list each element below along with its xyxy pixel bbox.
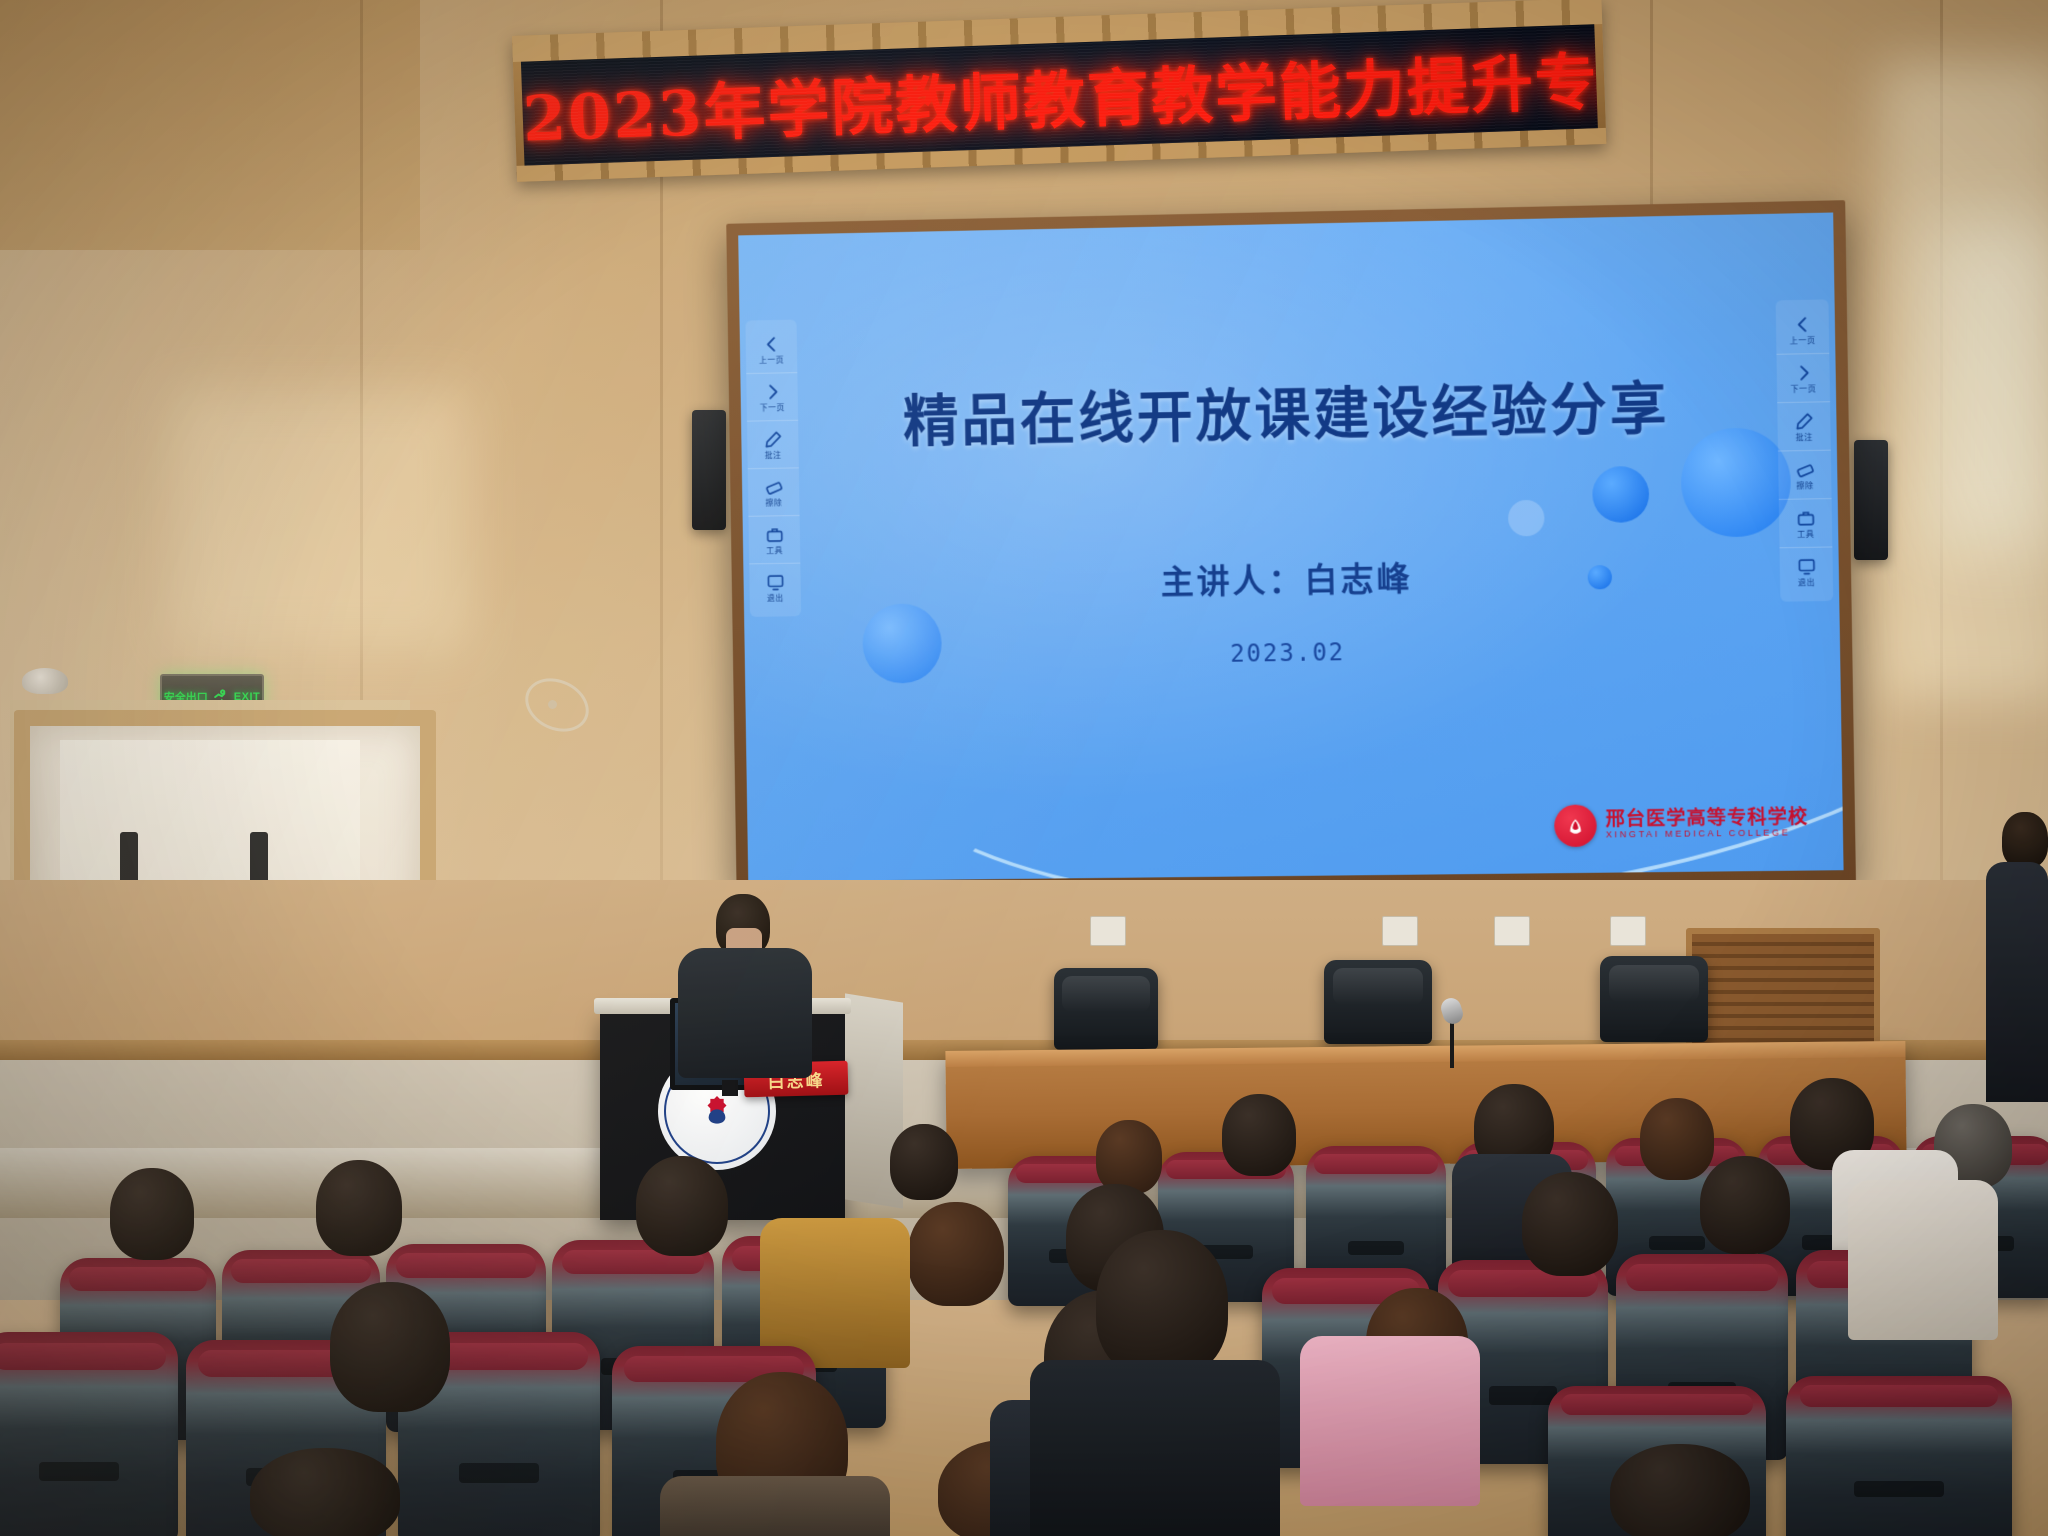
sunlight-patch <box>170 390 470 650</box>
audience-torso <box>1300 1336 1480 1506</box>
slide-toolbar-right[interactable]: 上一页 下一页 批注 擦除 工具 <box>1776 299 1834 601</box>
audience-head <box>1522 1172 1618 1276</box>
sunlight-patch <box>1930 220 2048 550</box>
toolbar-erase-label: 擦除 <box>765 497 782 508</box>
chevron-right-icon <box>1793 363 1813 383</box>
pen-icon <box>1794 412 1814 431</box>
college-logo-mark <box>1554 804 1597 847</box>
toolbar-annotate-button[interactable]: 批注 <box>747 420 799 468</box>
slide-toolbar-left[interactable]: 上一页 下一页 批注 擦除 工具 <box>745 320 801 617</box>
monitor-stand <box>722 1080 738 1096</box>
stage-chair[interactable] <box>1324 960 1432 1044</box>
audience-head <box>1700 1156 1790 1254</box>
toolbar-erase-label-right: 擦除 <box>1796 480 1813 491</box>
audience-head <box>330 1282 450 1412</box>
audience-head <box>890 1124 958 1200</box>
toolbar-next-page-label: 下一页 <box>760 402 785 413</box>
wall-speaker-right <box>1854 440 1888 560</box>
exit-screen-icon <box>766 573 785 592</box>
seat[interactable] <box>0 1332 178 1536</box>
chevron-right-icon <box>763 382 782 401</box>
audience-head <box>908 1202 1004 1306</box>
wall-socket[interactable] <box>1090 916 1126 946</box>
toolbar-next-page-button[interactable]: 下一页 <box>746 372 798 421</box>
chevron-left-icon <box>1793 315 1813 335</box>
audience-head <box>1222 1094 1296 1176</box>
chevron-left-icon <box>762 335 781 354</box>
audience-torso <box>660 1476 890 1536</box>
audience-head <box>636 1156 728 1256</box>
cable-clip <box>548 700 557 709</box>
toolbar-prev-page-button[interactable]: 上一页 <box>746 325 798 373</box>
hands-emblem-icon <box>1562 813 1589 839</box>
toolbar-annotate-label-right: 批注 <box>1795 432 1812 443</box>
stage-chair[interactable] <box>1054 968 1158 1050</box>
audience-head <box>1096 1230 1228 1378</box>
projection-screen-frame: 精品在线开放课建设经验分享 主讲人：白志峰 2023.02 邢台医学高等专科学校… <box>726 200 1856 894</box>
toolbar-prev-page-label-right: 上一页 <box>1790 335 1816 347</box>
seat[interactable] <box>1786 1376 2012 1536</box>
toolbar-exit-button-right[interactable]: 退出 <box>1780 546 1834 595</box>
audience-torso <box>1848 1180 1998 1340</box>
toolbar-exit-label: 退出 <box>767 593 784 604</box>
college-logo: 邢台医学高等专科学校 XINGTAI MEDICAL COLLEGE <box>1554 802 1809 847</box>
audience-head <box>110 1168 194 1260</box>
audience-head <box>1096 1120 1162 1194</box>
toolbar-prev-page-button-right[interactable]: 上一页 <box>1776 305 1830 353</box>
presenter-jacket <box>678 948 812 1078</box>
toolbar-exit-button[interactable]: 退出 <box>749 563 801 611</box>
toolbar-annotate-label: 批注 <box>765 450 782 461</box>
toolbar-next-page-label-right: 下一页 <box>1790 383 1816 395</box>
wall-speaker-left <box>692 410 726 530</box>
standing-attendee-body <box>1986 862 2048 1102</box>
standing-attendee-head <box>2002 812 2048 868</box>
wall-socket[interactable] <box>1494 916 1530 946</box>
audience-head <box>1610 1444 1750 1536</box>
pen-icon <box>763 430 782 449</box>
audience-head <box>1640 1098 1714 1180</box>
toolbar-next-page-button-right[interactable]: 下一页 <box>1776 353 1830 402</box>
wall-socket[interactable] <box>1382 916 1418 946</box>
lecture-hall-photo: 安全出口 EXIT 2023年学院教师教育教学能力提升专题培训 <box>0 0 2048 1536</box>
ceiling-band <box>0 0 420 250</box>
toolbar-erase-button-right[interactable]: 擦除 <box>1778 450 1832 499</box>
toolbar-prev-page-label: 上一页 <box>759 355 784 366</box>
toolbar-tools-label-right: 工具 <box>1797 529 1814 540</box>
audience-head <box>250 1448 400 1536</box>
toolbar-tools-label: 工具 <box>766 545 783 556</box>
wall-socket[interactable] <box>1610 916 1646 946</box>
audience-torso <box>1030 1360 1280 1536</box>
projection-screen[interactable]: 精品在线开放课建设经验分享 主讲人：白志峰 2023.02 邢台医学高等专科学校… <box>738 213 1843 882</box>
toolbox-icon <box>1796 508 1816 527</box>
audience-head <box>316 1160 402 1256</box>
college-name-en: XINGTAI MEDICAL COLLEGE <box>1606 828 1809 840</box>
toolbar-erase-button[interactable]: 擦除 <box>748 467 800 515</box>
exit-screen-icon <box>1796 557 1816 576</box>
eraser-icon <box>764 478 783 497</box>
toolbar-exit-label-right: 退出 <box>1798 577 1815 588</box>
eraser-icon <box>1795 460 1815 479</box>
security-camera-icon <box>22 668 68 694</box>
toolbar-annotate-button-right[interactable]: 批注 <box>1777 401 1831 450</box>
toolbar-tools-button[interactable]: 工具 <box>748 515 800 563</box>
toolbox-icon <box>765 525 784 544</box>
stage-chair[interactable] <box>1600 956 1708 1042</box>
college-logo-text: 邢台医学高等专科学校 XINGTAI MEDICAL COLLEGE <box>1605 808 1808 840</box>
toolbar-tools-button-right[interactable]: 工具 <box>1779 498 1833 547</box>
